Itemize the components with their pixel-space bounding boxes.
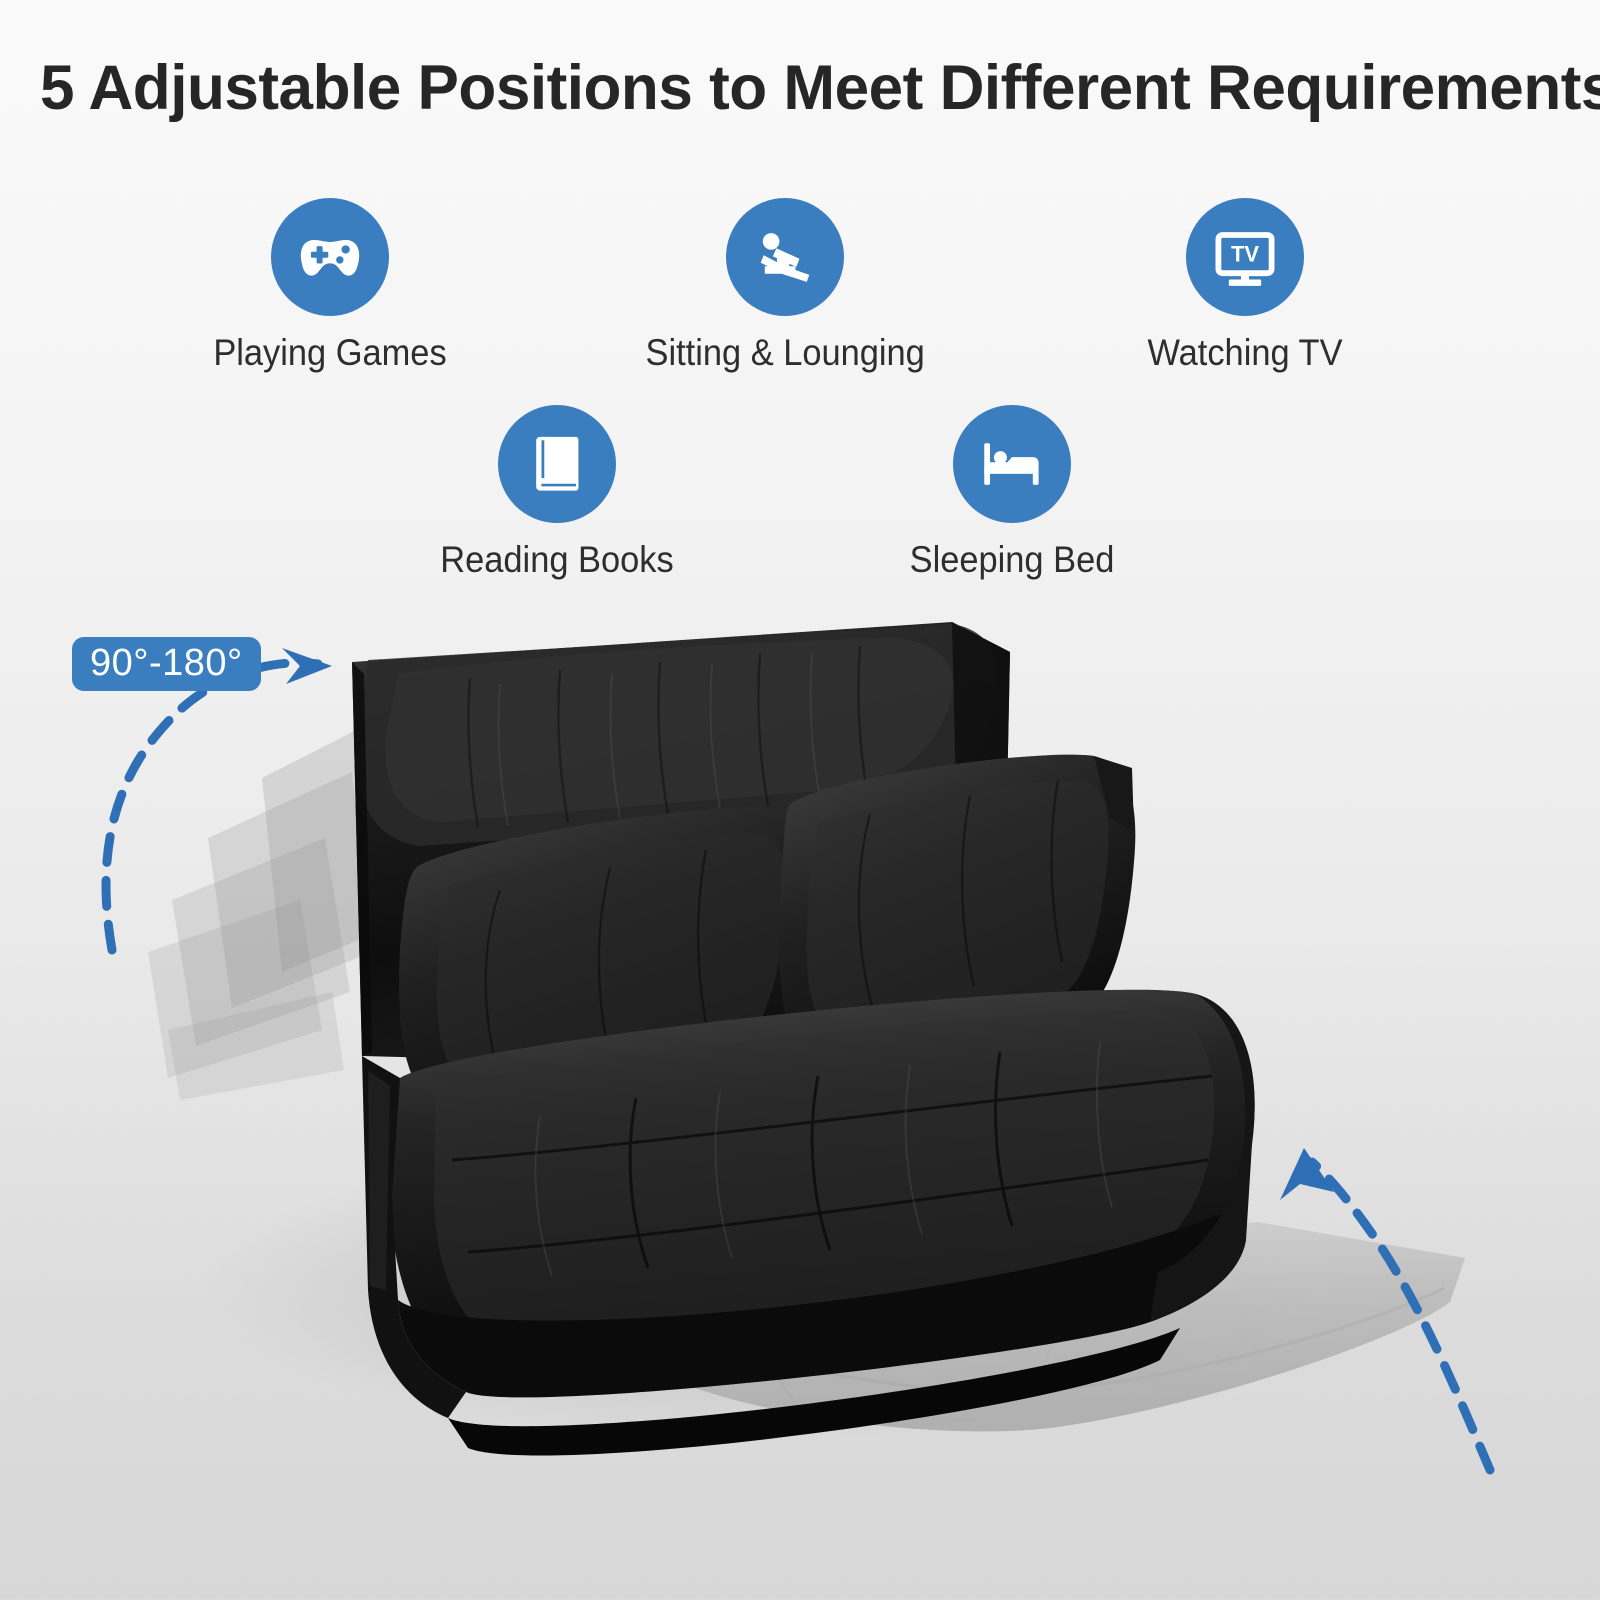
- angle-range-badge: 90°-180°: [72, 637, 261, 691]
- bed-icon: [975, 427, 1049, 501]
- tv-icon: TV: [1208, 220, 1282, 294]
- book-icon: [520, 427, 594, 501]
- feature-reading-books[interactable]: Reading Books: [407, 405, 707, 581]
- feature-watching-tv[interactable]: TV Watching TV: [1095, 198, 1395, 374]
- feature-list: Playing Games Sitting & Lounging TV: [0, 190, 1600, 610]
- feature-sitting-lounging[interactable]: Sitting & Lounging: [635, 198, 935, 374]
- feature-icon-badge: [726, 198, 844, 316]
- feature-icon-badge: [271, 198, 389, 316]
- feature-icon-badge: [953, 405, 1071, 523]
- feature-label: Sleeping Bed: [873, 539, 1152, 581]
- page-title: 5 Adjustable Positions to Meet Different…: [40, 52, 1537, 124]
- feature-playing-games[interactable]: Playing Games: [180, 198, 480, 374]
- reclining-person-icon: [748, 220, 822, 294]
- feature-label: Reading Books: [418, 539, 697, 581]
- gamepad-icon: [293, 220, 367, 294]
- feature-sleeping-bed[interactable]: Sleeping Bed: [862, 405, 1162, 581]
- feature-label: Watching TV: [1106, 332, 1385, 374]
- feature-label: Playing Games: [191, 332, 470, 374]
- feature-icon-badge: [498, 405, 616, 523]
- feature-label: Sitting & Lounging: [646, 332, 925, 374]
- floor-sofa: [352, 622, 1255, 1456]
- feature-icon-badge: TV: [1186, 198, 1304, 316]
- tv-screen-text: TV: [1231, 242, 1259, 267]
